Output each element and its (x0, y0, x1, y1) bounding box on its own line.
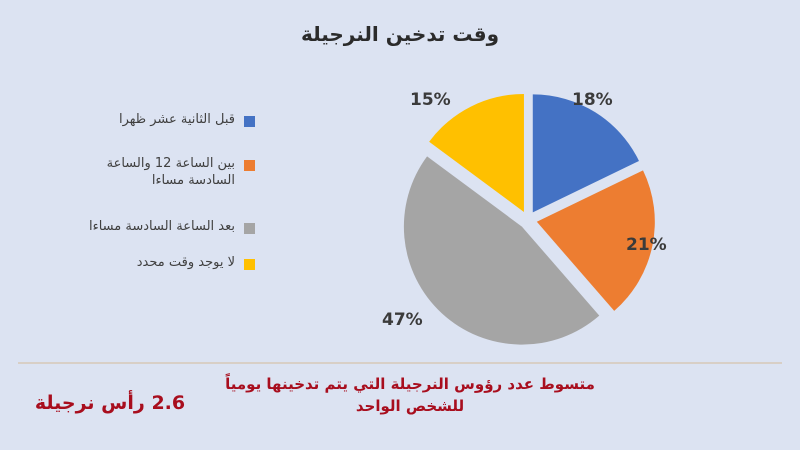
data-label-before-noon: 18% (572, 90, 613, 110)
legend-item-label: بين الساعة 12 والساعة السادسة مساءا (55, 156, 235, 189)
footer-value: 2.6 رأس نرجيلة (20, 392, 200, 414)
legend-item-label: بعد الساعة السادسة مساءا (55, 219, 235, 236)
legend-swatch-orange-icon (244, 160, 255, 171)
footer-statement: متسوط عدد رؤوس النرجيلة التي يتم تدخينها… (210, 374, 610, 418)
data-label-noon-to-six: 21% (626, 235, 667, 255)
legend-swatch-blue-icon (244, 116, 255, 127)
slide-canvas: وقت تدخين النرجيلة قبل الثانية عشر ظهرا … (0, 0, 800, 450)
data-label-after-six: 47% (382, 310, 423, 330)
legend-item-label: قبل الثانية عشر ظهرا (55, 112, 235, 129)
legend-swatch-gray-icon (244, 223, 255, 234)
legend-item-before-noon[interactable]: قبل الثانية عشر ظهرا (55, 112, 255, 132)
legend-item-no-fixed-time[interactable]: لا يوجد وقت محدد (55, 255, 255, 275)
legend-item-after-six[interactable]: بعد الساعة السادسة مساءا (55, 219, 255, 239)
footer-statement-line-1: متسوط عدد رؤوس النرجيلة التي يتم تدخينها… (210, 374, 610, 396)
legend-item-noon-to-six[interactable]: بين الساعة 12 والساعة السادسة مساءا (55, 156, 255, 189)
footer-divider (18, 362, 782, 364)
legend-item-label: لا يوجد وقت محدد (55, 255, 235, 272)
pie-chart-svg (378, 72, 678, 357)
legend-swatch-yellow-icon (244, 259, 255, 270)
data-label-no-fixed-time: 15% (410, 90, 451, 110)
pie-slice-group (404, 94, 655, 345)
footer-statement-line-2: للشخص الواحد (210, 396, 610, 418)
chart-legend: قبل الثانية عشر ظهرا بين الساعة 12 والسا… (55, 112, 255, 305)
page-title: وقت تدخين النرجيلة (0, 22, 800, 46)
pie-chart: 18% 21% 47% 15% (378, 72, 678, 357)
